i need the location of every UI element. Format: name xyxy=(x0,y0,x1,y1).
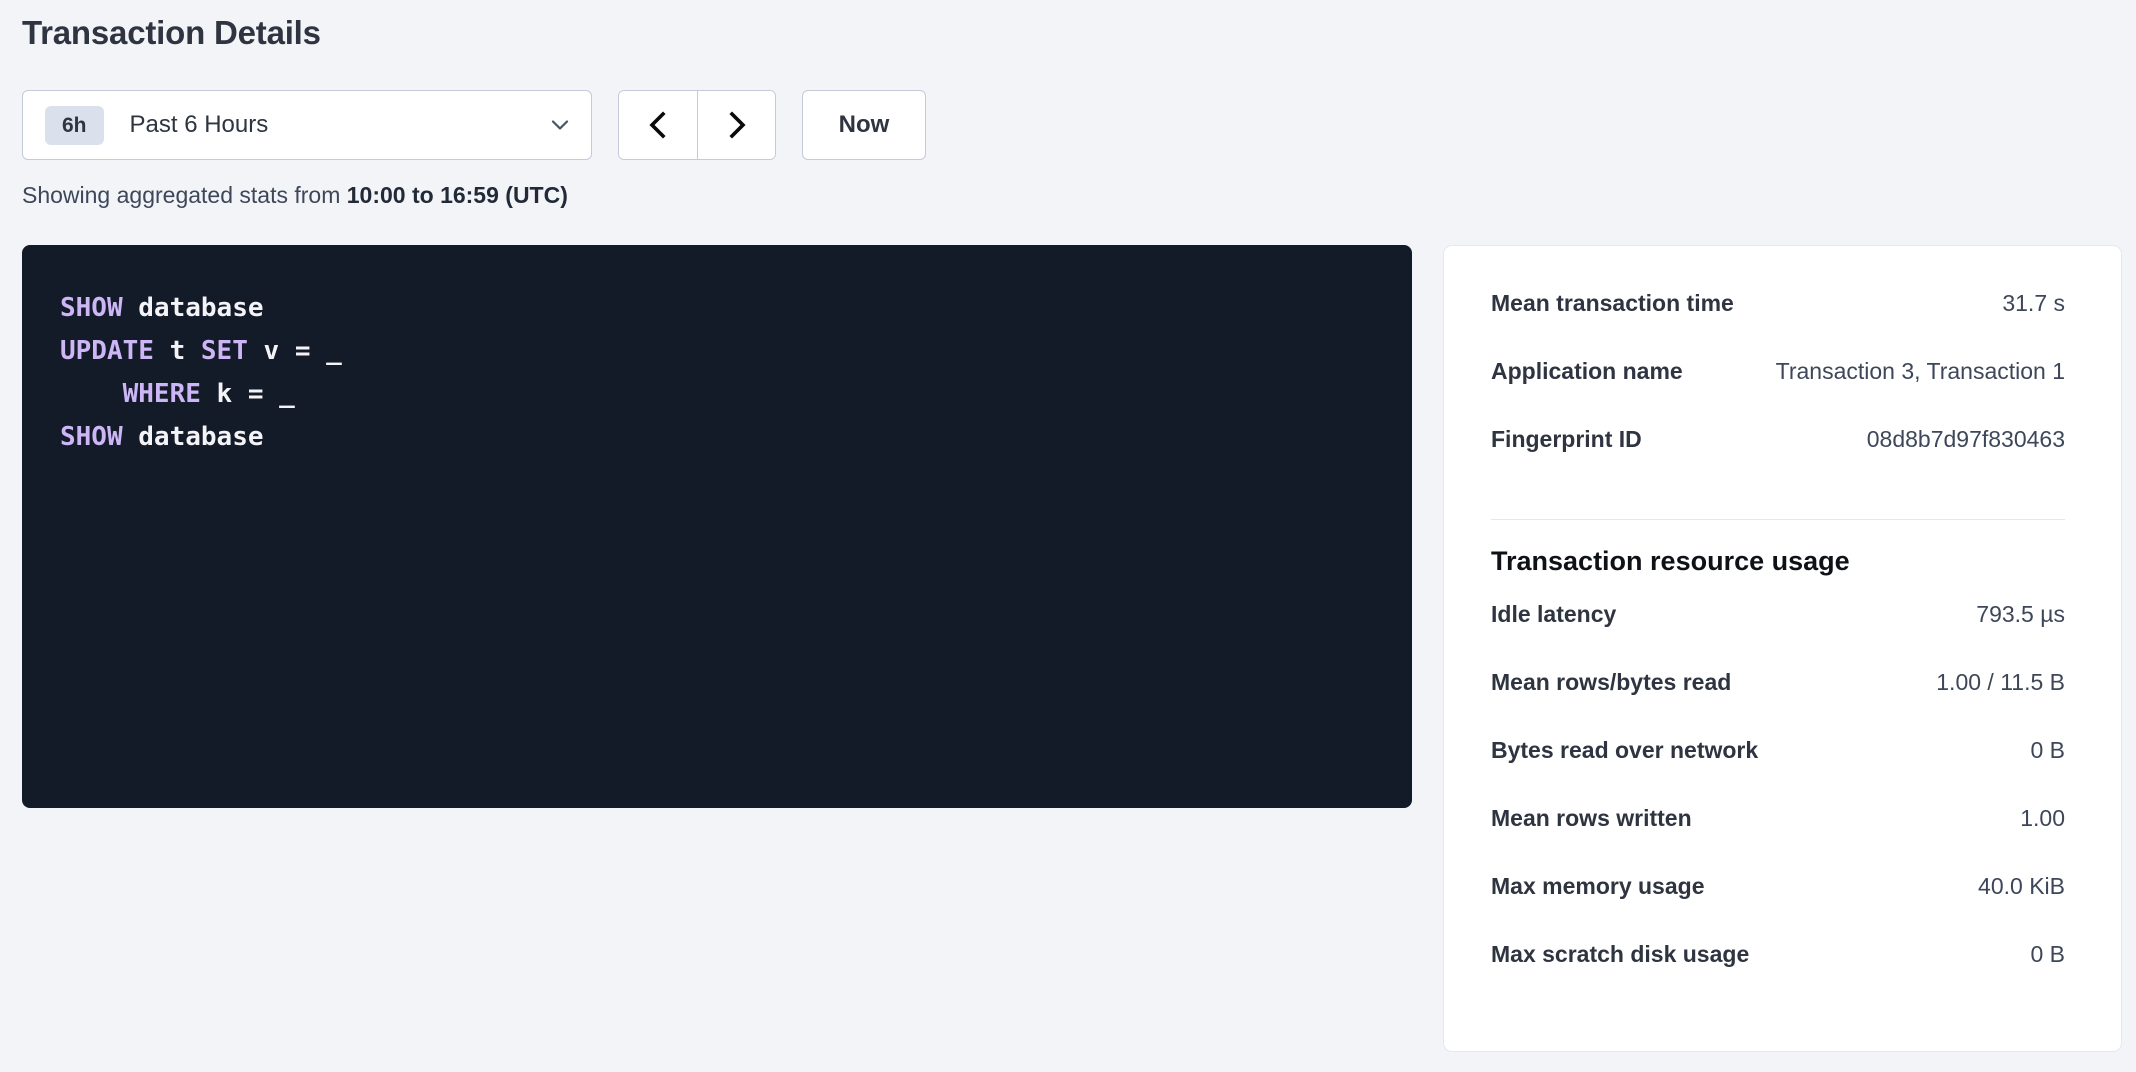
detail-row-label: Mean rows/bytes read xyxy=(1491,669,1731,696)
detail-row-label: Bytes read over network xyxy=(1491,737,1758,764)
transaction-details-page: Transaction Details 6h Past 6 Hours xyxy=(0,0,2136,1072)
transaction-detail-card: Mean transaction time31.7 sApplication n… xyxy=(1443,245,2122,1052)
detail-row-label: Idle latency xyxy=(1491,601,1616,628)
detail-row: Idle latency793.5 µs xyxy=(1491,601,2065,669)
toolbar: 6h Past 6 Hours xyxy=(22,90,926,160)
time-range-label: Past 6 Hours xyxy=(130,111,549,139)
card-divider xyxy=(1491,519,2065,520)
sql-keyword: SET xyxy=(201,336,248,366)
chevron-down-icon xyxy=(549,114,571,136)
detail-row-label: Max memory usage xyxy=(1491,873,1704,900)
sql-code-block: SHOW databaseUPDATE t SET v = _ WHERE k … xyxy=(22,245,1412,808)
detail-row: Fingerprint ID08d8b7d97f830463 xyxy=(1491,426,2065,494)
detail-row-value: 31.7 s xyxy=(2002,290,2065,317)
detail-row-value: 0 B xyxy=(2030,941,2065,968)
sql-identifier: database xyxy=(123,293,264,323)
detail-row: Mean rows written1.00 xyxy=(1491,805,2065,873)
chevron-right-icon xyxy=(722,109,752,141)
sql-code-line: WHERE k = _ xyxy=(60,373,1412,416)
stats-note-prefix: Showing aggregated stats from xyxy=(22,182,347,208)
detail-row-label: Fingerprint ID xyxy=(1491,426,1642,453)
detail-row-value: Transaction 3, Transaction 1 xyxy=(1776,358,2065,385)
detail-row: Application nameTransaction 3, Transacti… xyxy=(1491,358,2065,426)
detail-row-label: Max scratch disk usage xyxy=(1491,941,1749,968)
sql-keyword: SHOW xyxy=(60,293,123,323)
time-nav-group xyxy=(618,90,776,160)
sql-code-line: UPDATE t SET v = _ xyxy=(60,330,1412,373)
summary-rows: Mean transaction time31.7 sApplication n… xyxy=(1491,290,2065,494)
previous-period-button[interactable] xyxy=(619,91,697,159)
sql-identifier: database xyxy=(123,422,264,452)
time-range-badge: 6h xyxy=(45,106,104,145)
now-button[interactable]: Now xyxy=(802,90,926,160)
detail-row: Mean transaction time31.7 s xyxy=(1491,290,2065,358)
next-period-button[interactable] xyxy=(697,91,775,159)
sql-code-line: SHOW database xyxy=(60,287,1412,330)
detail-row-label: Mean rows written xyxy=(1491,805,1692,832)
aggregated-stats-note: Showing aggregated stats from 10:00 to 1… xyxy=(22,182,568,209)
detail-row-value: 793.5 µs xyxy=(1976,601,2065,628)
detail-row: Max memory usage40.0 KiB xyxy=(1491,873,2065,941)
detail-row-value: 1.00 / 11.5 B xyxy=(1936,669,2065,696)
sql-identifier: k = _ xyxy=(201,379,295,409)
detail-row-value: 40.0 KiB xyxy=(1978,873,2065,900)
time-range-select[interactable]: 6h Past 6 Hours xyxy=(22,90,592,160)
resource-usage-rows: Idle latency793.5 µsMean rows/bytes read… xyxy=(1491,601,2065,1009)
detail-row: Bytes read over network0 B xyxy=(1491,737,2065,805)
detail-row: Mean rows/bytes read1.00 / 11.5 B xyxy=(1491,669,2065,737)
detail-row-label: Mean transaction time xyxy=(1491,290,1734,317)
sql-keyword: UPDATE xyxy=(60,336,154,366)
stats-note-range: 10:00 to 16:59 (UTC) xyxy=(347,182,568,208)
detail-row-value: 08d8b7d97f830463 xyxy=(1867,426,2065,453)
resource-usage-heading: Transaction resource usage xyxy=(1491,546,2065,577)
detail-row-value: 1.00 xyxy=(2020,805,2065,832)
detail-row-label: Application name xyxy=(1491,358,1683,385)
sql-code-line: SHOW database xyxy=(60,416,1412,459)
detail-row: Max scratch disk usage0 B xyxy=(1491,941,2065,1009)
page-title: Transaction Details xyxy=(22,14,321,52)
detail-row-value: 0 B xyxy=(2030,737,2065,764)
chevron-left-icon xyxy=(643,109,673,141)
sql-identifier: t xyxy=(154,336,201,366)
sql-identifier: v = _ xyxy=(248,336,342,366)
sql-keyword: SHOW xyxy=(60,422,123,452)
sql-keyword: WHERE xyxy=(60,379,201,409)
